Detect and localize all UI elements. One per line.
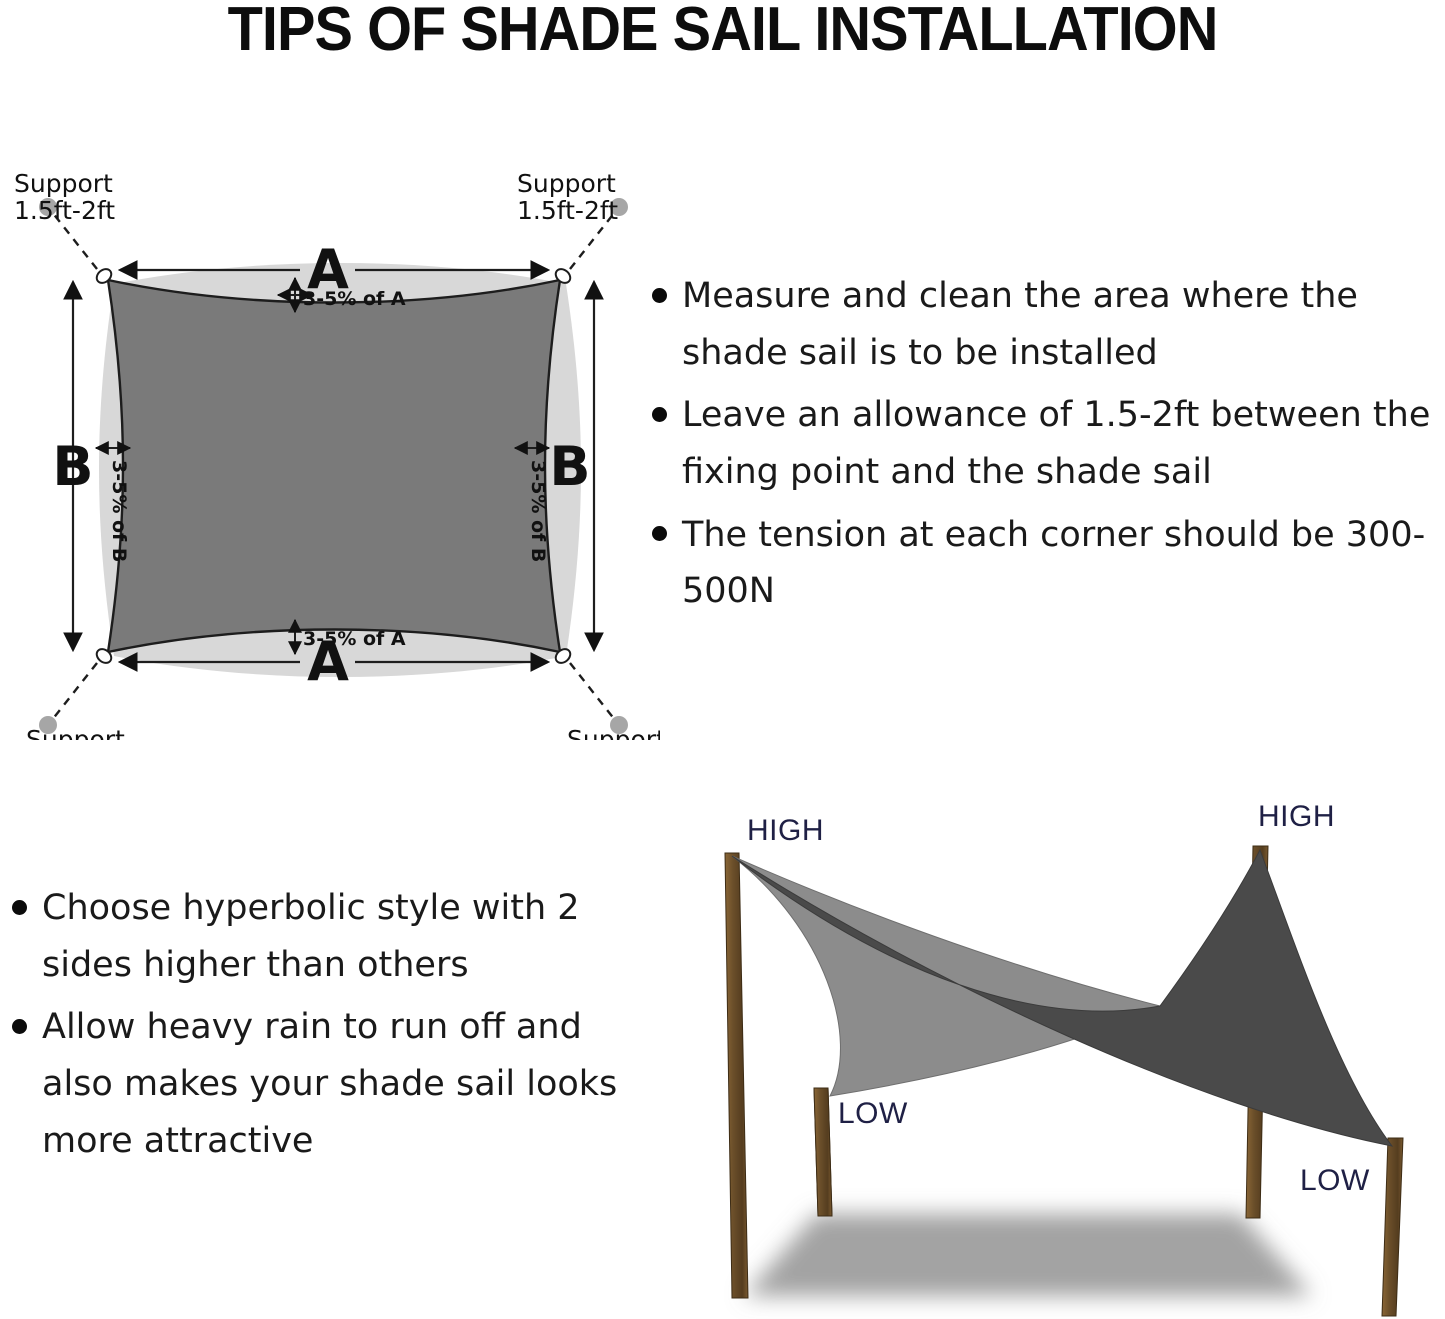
- tip-item: The tension at each corner should be 300…: [640, 507, 1445, 620]
- tip-text: Choose hyperbolic style with 2 sides hig…: [42, 888, 580, 985]
- hyperbolic-sail-diagram: HIGH HIGH LOW LOW: [640, 778, 1445, 1319]
- support-label-top-left-range: 1.5ft-2ft: [14, 196, 115, 225]
- ground-shadow: [744, 1214, 1312, 1296]
- page-title: TIPS OF SHADE SAIL INSTALLATION: [51, 0, 1395, 65]
- installation-tips-list: Measure and clean the area where the sha…: [640, 268, 1445, 626]
- sag-label-b-right: 3-5% of B: [527, 460, 549, 562]
- support-label-top-left-title: Support: [14, 169, 113, 198]
- label-low-right: LOW: [1300, 1164, 1370, 1197]
- dim-label-b-right: B: [549, 435, 590, 498]
- sail-body: [108, 280, 560, 652]
- tip-item: Choose hyperbolic style with 2 sides hig…: [0, 880, 640, 993]
- post-high-left: [725, 853, 748, 1298]
- sail-panel-light: [732, 856, 1160, 1096]
- support-label-bottom-right-title: Support: [567, 725, 660, 740]
- sag-label-a-bottom: 3-5% of A: [303, 628, 406, 650]
- post-low-right: [1382, 1138, 1403, 1316]
- post-low-left-front: [814, 1088, 832, 1216]
- sag-label-b-left: 3-5% of B: [108, 460, 130, 562]
- support-label-bottom-left-title: Support: [26, 725, 125, 740]
- support-line-bottom-right: [570, 663, 615, 720]
- tip-item: Measure and clean the area where the sha…: [640, 268, 1445, 381]
- bullet-dot-icon: [12, 1019, 27, 1034]
- label-high-left: HIGH: [747, 814, 824, 847]
- bullet-dot-icon: [652, 407, 667, 422]
- tip-text: Allow heavy rain to run off and also mak…: [42, 1007, 617, 1160]
- tip-item: Leave an allowance of 1.5-2ft between th…: [640, 387, 1445, 500]
- tip-text: Measure and clean the area where the sha…: [682, 276, 1358, 373]
- bullet-dot-icon: [652, 288, 667, 303]
- support-line-bottom-left: [52, 663, 97, 720]
- bullet-dot-icon: [652, 526, 667, 541]
- support-label-top-right-title: Support: [517, 169, 616, 198]
- hyperbolic-tips-list: Choose hyperbolic style with 2 sides hig…: [0, 880, 640, 1175]
- tip-text: The tension at each corner should be 300…: [682, 515, 1425, 612]
- dim-label-b-left: B: [52, 435, 93, 498]
- rectangular-sail-diagram: A 3-5% of A A 3-5% of A B 3-5% of B B 3-…: [0, 160, 660, 740]
- tip-item: Allow heavy rain to run off and also mak…: [0, 999, 640, 1169]
- label-high-right: HIGH: [1258, 800, 1335, 833]
- tip-text: Leave an allowance of 1.5-2ft between th…: [682, 395, 1430, 492]
- label-low-left: LOW: [838, 1097, 908, 1130]
- bullet-dot-icon: [12, 900, 27, 915]
- sag-label-a-top: 3-5% of A: [303, 288, 406, 310]
- support-label-top-right-range: 1.5ft-2ft: [517, 196, 618, 225]
